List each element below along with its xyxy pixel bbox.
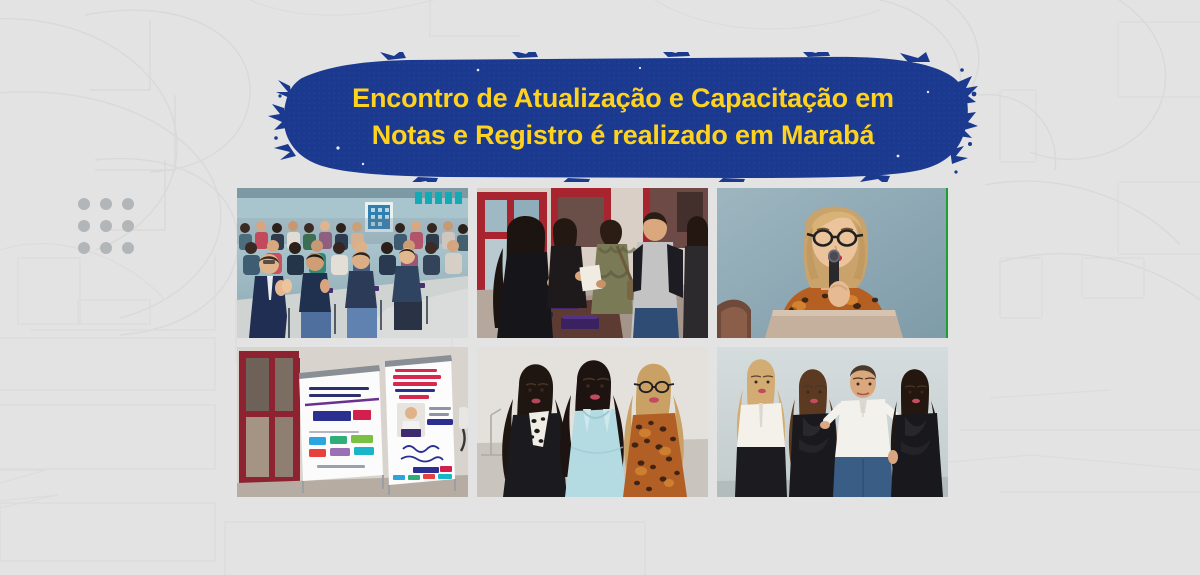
page-title-line-2: Notas e Registro é realizado em Marabá [372, 118, 875, 153]
dot [78, 220, 90, 232]
page-title: Encontro de Atualização e Capacitação em… [268, 52, 978, 182]
photo-auditorium-audience[interactable] [237, 188, 468, 338]
page-title-line-1: Encontro de Atualização e Capacitação em [352, 81, 894, 116]
dot [122, 198, 134, 210]
dot [122, 220, 134, 232]
dot [78, 242, 90, 254]
decorative-dot-grid [78, 198, 144, 264]
title-banner: Encontro de Atualização e Capacitação em… [268, 52, 978, 182]
photo-group-four[interactable] [717, 347, 948, 497]
dot [100, 242, 112, 254]
dot [100, 198, 112, 210]
photo-three-women[interactable] [477, 347, 708, 497]
photo-registration-desk[interactable] [477, 188, 708, 338]
green-accent-edge [946, 188, 948, 338]
dot [122, 242, 134, 254]
photo-event-banners[interactable] [237, 347, 468, 497]
article-header-page: .ln { fill:none; stroke:#d9d9d9; stroke-… [0, 0, 1200, 575]
photo-speaker-podium[interactable] [717, 188, 948, 338]
dot [100, 220, 112, 232]
photo-gallery [237, 188, 948, 497]
dot [78, 198, 90, 210]
